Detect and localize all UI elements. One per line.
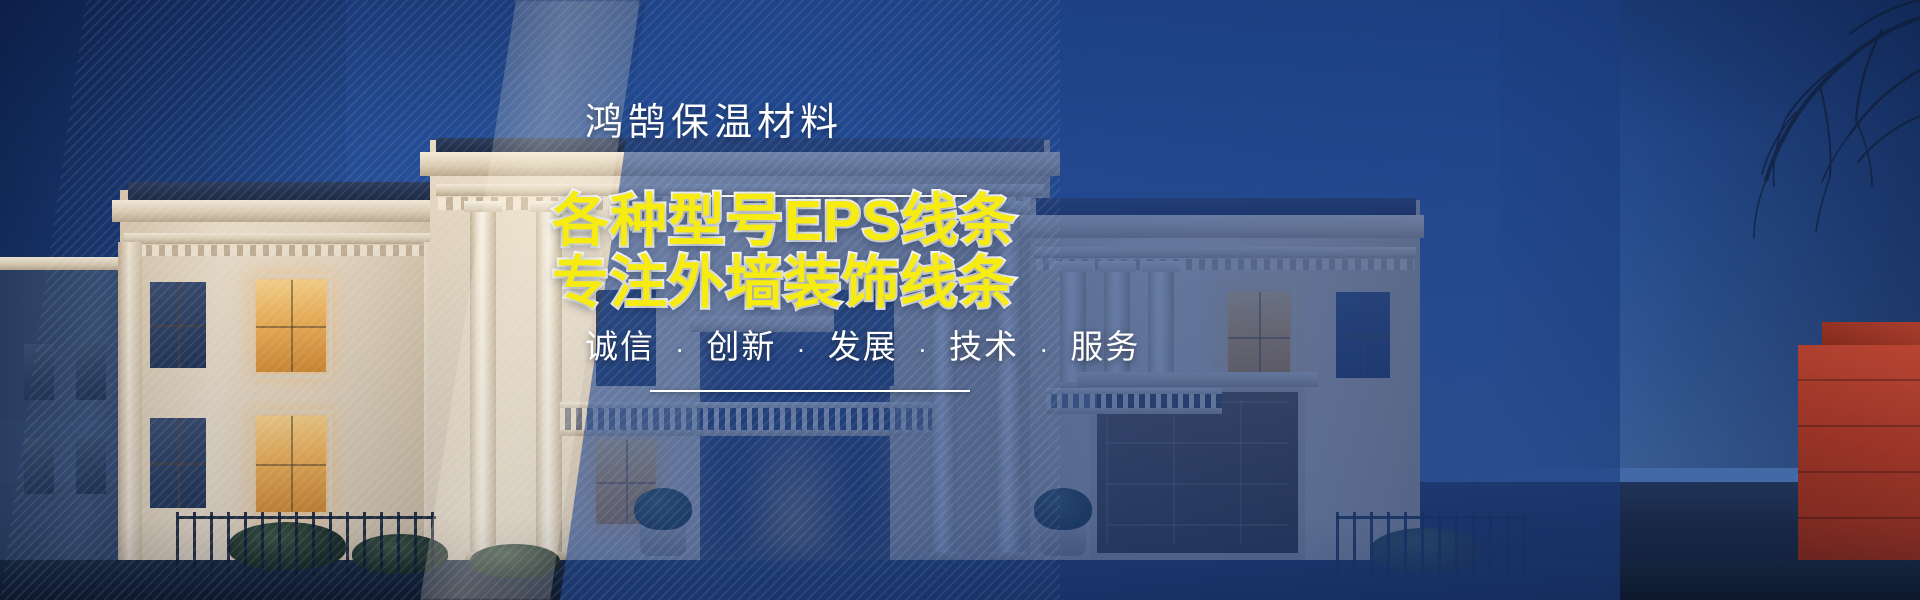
slogan-separator: · bbox=[918, 334, 929, 364]
slogan-separator: · bbox=[675, 334, 686, 364]
slogan-item-1: 诚信 bbox=[585, 328, 655, 365]
divider-bottom bbox=[650, 390, 970, 392]
slogan-item-2: 创新 bbox=[706, 328, 776, 365]
promo-banner: 鸿鹄保温材料 各种型号EPS线条 专注外墙装饰线条 诚信 · 创新 · 发展 ·… bbox=[0, 0, 1920, 600]
slogan-item-4: 技术 bbox=[949, 328, 1019, 365]
headline-block: 各种型号EPS线条 专注外墙装饰线条 bbox=[552, 192, 1072, 312]
slogan-item-3: 发展 bbox=[828, 328, 898, 365]
slogan-separator: · bbox=[1039, 334, 1050, 364]
company-name: 鸿鹄保温材料 bbox=[585, 104, 843, 142]
headline-line-2: 专注外墙装饰线条 bbox=[552, 254, 1072, 312]
slogan-separator: · bbox=[797, 334, 808, 364]
slogan: 诚信 · 创新 · 发展 · 技术 · 服务 bbox=[585, 330, 1140, 363]
banner-content: 鸿鹄保温材料 各种型号EPS线条 专注外墙装饰线条 诚信 · 创新 · 发展 ·… bbox=[0, 0, 1920, 600]
slogan-item-5: 服务 bbox=[1070, 328, 1140, 365]
headline-line-1: 各种型号EPS线条 bbox=[552, 192, 1072, 250]
